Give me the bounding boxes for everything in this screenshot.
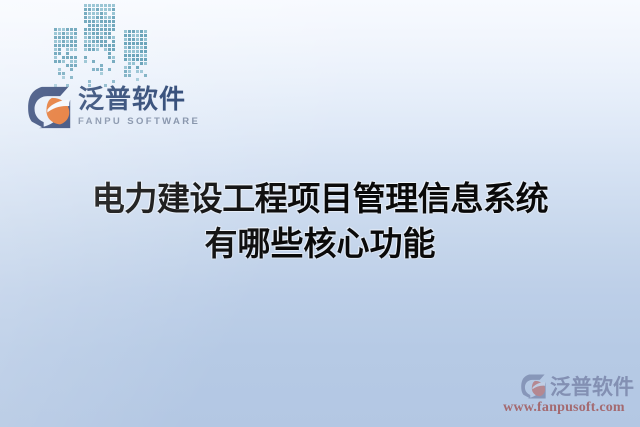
skyline-pixel <box>100 72 103 75</box>
skyline-pixel <box>144 46 147 49</box>
skyline-pixel <box>88 32 91 35</box>
skyline-pixel <box>84 4 87 7</box>
brand-name-cn: 泛普软件 <box>78 87 200 114</box>
skyline-pixel <box>66 32 69 35</box>
skyline-pixel <box>62 44 65 47</box>
skyline-pixel <box>62 76 65 79</box>
skyline-pixel <box>144 62 147 65</box>
skyline-pixel <box>108 4 111 7</box>
skyline-pixel <box>136 58 139 61</box>
skyline-pixel <box>70 48 73 51</box>
skyline-pixel <box>124 70 127 73</box>
skyline-pixel <box>96 68 99 71</box>
skyline-pixel <box>96 20 99 23</box>
skyline-pixel <box>58 40 61 43</box>
skyline-pixel <box>136 30 139 33</box>
fanpu-hexagon-swoosh-watermark-icon <box>521 374 548 399</box>
skyline-pixel <box>58 36 61 39</box>
skyline-pixel <box>124 46 127 49</box>
skyline-pixel <box>108 16 111 19</box>
skyline-pixel <box>112 12 115 15</box>
skyline-pixel <box>128 38 131 41</box>
skyline-pixel <box>70 56 73 59</box>
skyline-pixel <box>96 4 99 7</box>
skyline-pixel <box>112 60 115 63</box>
skyline-pixel <box>54 28 57 31</box>
skyline-pixel <box>92 20 95 23</box>
skyline-pixel <box>92 4 95 7</box>
skyline-pixel <box>108 56 111 59</box>
skyline-pixel <box>112 56 115 59</box>
skyline-pixel <box>84 20 87 23</box>
skyline-pixel <box>54 48 57 51</box>
skyline-pixel <box>74 40 77 43</box>
fanpu-hexagon-swoosh-icon <box>28 86 74 129</box>
skyline-pixel <box>108 36 111 39</box>
skyline-pixel <box>84 36 87 39</box>
skyline-pixel <box>128 66 131 69</box>
skyline-pixel <box>62 56 65 59</box>
brand-text-block: 泛普软件 FANPU SOFTWARE <box>78 86 200 127</box>
skyline-pixel <box>84 60 87 63</box>
skyline-pixel <box>88 44 91 47</box>
skyline-pixel <box>112 4 115 7</box>
skyline-pixel <box>112 28 115 31</box>
skyline-tower-center <box>84 4 117 88</box>
skyline-pixel <box>62 40 65 43</box>
skyline-pixel <box>136 78 139 81</box>
skyline-pixel <box>96 8 99 11</box>
skyline-pixel <box>144 38 147 41</box>
skyline-pixel <box>128 30 131 33</box>
skyline-pixel <box>128 34 131 37</box>
skyline-pixel <box>108 52 111 55</box>
skyline-pixel <box>132 46 135 49</box>
skyline-pixel <box>84 16 87 19</box>
skyline-pixel <box>104 48 107 51</box>
skyline-pixel <box>84 48 87 51</box>
skyline-pixel <box>92 24 95 27</box>
skyline-pixel <box>96 44 99 47</box>
skyline-pixel <box>124 30 127 33</box>
skyline-pixel <box>54 32 57 35</box>
skyline-pixel <box>62 60 65 63</box>
skyline-pixel <box>136 46 139 49</box>
skyline-pixel <box>70 60 73 63</box>
skyline-pixel <box>100 16 103 19</box>
skyline-pixel <box>92 60 95 63</box>
skyline-pixel <box>128 46 131 49</box>
skyline-pixel <box>62 28 65 31</box>
skyline-tower-right <box>124 30 150 88</box>
skyline-pixel <box>124 54 127 57</box>
skyline-pixel <box>144 42 147 45</box>
skyline-pixel <box>88 4 91 7</box>
skyline-pixel <box>100 68 103 71</box>
skyline-pixel <box>100 40 103 43</box>
skyline-pixel <box>66 40 69 43</box>
skyline-pixel <box>104 40 107 43</box>
skyline-pixel <box>124 38 127 41</box>
skyline-pixel <box>96 28 99 31</box>
skyline-pixel <box>124 42 127 45</box>
skyline-pixel <box>92 28 95 31</box>
skyline-pixel <box>66 56 69 59</box>
skyline-pixel <box>100 4 103 7</box>
skyline-pixel <box>144 74 147 77</box>
skyline-pixel <box>66 64 69 67</box>
skyline-pixel <box>74 64 77 67</box>
skyline-pixel <box>92 68 95 71</box>
skyline-pixel <box>112 44 115 47</box>
skyline-pixel <box>70 36 73 39</box>
skyline-pixel <box>100 12 103 15</box>
skyline-pixel <box>88 8 91 11</box>
skyline-pixel <box>104 12 107 15</box>
skyline-pixel <box>88 48 91 51</box>
skyline-pixel <box>66 52 69 55</box>
skyline-pixel <box>74 56 77 59</box>
skyline-pixel <box>58 28 61 31</box>
skyline-pixel <box>140 38 143 41</box>
skyline-pixel <box>96 40 99 43</box>
skyline-pixel <box>92 44 95 47</box>
skyline-pixel <box>140 34 143 37</box>
skyline-pixel <box>136 38 139 41</box>
skyline-pixel <box>70 40 73 43</box>
skyline-pixel <box>66 36 69 39</box>
skyline-pixel <box>88 40 91 43</box>
skyline-pixel <box>92 12 95 15</box>
page-title-line-1: 电力建设工程项目管理信息系统 <box>0 176 640 221</box>
watermark-name-cn: 泛普软件 <box>550 371 634 401</box>
skyline-pixel <box>70 68 73 71</box>
skyline-pixel <box>140 54 143 57</box>
skyline-pixel <box>104 32 107 35</box>
skyline-pixel <box>70 44 73 47</box>
skyline-pixel <box>74 28 77 31</box>
skyline-pixel <box>144 30 147 33</box>
skyline-pixel <box>100 32 103 35</box>
skyline-pixel <box>70 76 73 79</box>
skyline-pixel <box>128 58 131 61</box>
skyline-pixel <box>112 8 115 11</box>
skyline-pixel <box>132 50 135 53</box>
skyline-pixel <box>92 16 95 19</box>
skyline-pixel <box>108 48 111 51</box>
page-title-line-2: 有哪些核心功能 <box>0 221 640 266</box>
skyline-pixel <box>84 28 87 31</box>
skyline-pixel <box>54 40 57 43</box>
skyline-pixel <box>104 4 107 7</box>
skyline-pixel <box>108 24 111 27</box>
skyline-pixel <box>54 56 57 59</box>
skyline-pixel <box>144 50 147 53</box>
skyline-pixel <box>58 48 61 51</box>
skyline-pixel <box>70 64 73 67</box>
skyline-pixel <box>104 8 107 11</box>
skyline-pixel <box>136 34 139 37</box>
skyline-pixel <box>140 50 143 53</box>
skyline-pixel <box>74 48 77 51</box>
skyline-pixel <box>112 48 115 51</box>
skyline-pixel <box>112 20 115 23</box>
skyline-pixel <box>104 36 107 39</box>
skyline-pixel <box>96 12 99 15</box>
skyline-pixel <box>124 50 127 53</box>
watermark-url: www.fanpusoft.com <box>494 400 634 416</box>
skyline-pixel <box>136 54 139 57</box>
skyline-pixel <box>66 44 69 47</box>
skyline-pixel <box>58 68 61 71</box>
skyline-pixel <box>140 30 143 33</box>
skyline-pixel <box>140 70 143 73</box>
skyline-pixel <box>58 32 61 35</box>
brand-logo: 泛普软件 FANPU SOFTWARE <box>28 86 200 129</box>
skyline-pixel <box>100 24 103 27</box>
skyline-pixel <box>112 16 115 19</box>
skyline-pixel <box>54 52 57 55</box>
skyline-pixel <box>62 72 65 75</box>
skyline-pixel <box>136 42 139 45</box>
skyline-pixel <box>74 36 77 39</box>
skyline-pixel <box>108 44 111 47</box>
skyline-pixel <box>96 24 99 27</box>
skyline-tower-left <box>54 28 78 88</box>
skyline-pixel <box>128 54 131 57</box>
skyline-pixel <box>136 50 139 53</box>
skyline-pixel <box>62 36 65 39</box>
skyline-pixel <box>84 40 87 43</box>
skyline-pixel <box>132 62 135 65</box>
skyline-pixel <box>100 28 103 31</box>
pixel-skyline-icon <box>54 0 150 88</box>
skyline-pixel <box>92 36 95 39</box>
skyline-pixel <box>132 34 135 37</box>
skyline-pixel <box>58 44 61 47</box>
skyline-pixel <box>100 64 103 67</box>
page-title: 电力建设工程项目管理信息系统 有哪些核心功能 <box>0 176 640 266</box>
skyline-pixel <box>88 28 91 31</box>
skyline-pixel <box>88 36 91 39</box>
skyline-pixel <box>92 40 95 43</box>
skyline-pixel <box>108 68 111 71</box>
skyline-pixel <box>84 12 87 15</box>
skyline-pixel <box>88 16 91 19</box>
skyline-pixel <box>132 30 135 33</box>
skyline-pixel <box>58 52 61 55</box>
skyline-pixel <box>88 20 91 23</box>
skyline-pixel <box>100 8 103 11</box>
skyline-pixel <box>54 44 57 47</box>
brand-name-en: FANPU SOFTWARE <box>78 116 200 127</box>
watermark-logo-row: 泛普软件 <box>494 371 634 401</box>
skyline-pixel <box>58 72 61 75</box>
skyline-pixel <box>124 66 127 69</box>
skyline-pixel <box>128 70 131 73</box>
skyline-pixel <box>132 58 135 61</box>
skyline-pixel <box>96 36 99 39</box>
skyline-pixel <box>74 32 77 35</box>
skyline-pixel <box>100 44 103 47</box>
skyline-pixel <box>104 20 107 23</box>
skyline-pixel <box>74 60 77 63</box>
skyline-pixel <box>140 58 143 61</box>
skyline-pixel <box>124 74 127 77</box>
skyline-pixel <box>88 80 91 83</box>
skyline-pixel <box>108 32 111 35</box>
skyline-pixel <box>128 42 131 45</box>
skyline-pixel <box>54 36 57 39</box>
skyline-pixel <box>104 28 107 31</box>
skyline-pixel <box>66 28 69 31</box>
skyline-pixel <box>88 12 91 15</box>
skyline-pixel <box>58 60 61 63</box>
skyline-pixel <box>140 46 143 49</box>
skyline-pixel <box>108 8 111 11</box>
skyline-pixel <box>96 48 99 51</box>
skyline-pixel <box>128 50 131 53</box>
skyline-pixel <box>132 38 135 41</box>
skyline-pixel <box>136 66 139 69</box>
skyline-pixel <box>70 28 73 31</box>
skyline-pixel <box>124 34 127 37</box>
skyline-pixel <box>100 20 103 23</box>
skyline-pixel <box>108 20 111 23</box>
skyline-pixel <box>104 24 107 27</box>
skyline-pixel <box>84 8 87 11</box>
skyline-pixel <box>112 24 115 27</box>
skyline-pixel <box>92 48 95 51</box>
skyline-pixel <box>92 32 95 35</box>
skyline-pixel <box>144 34 147 37</box>
skyline-pixel <box>54 60 57 63</box>
skyline-pixel <box>140 62 143 65</box>
skyline-pixel <box>74 44 77 47</box>
skyline-pixel <box>112 80 115 83</box>
skyline-pixel <box>144 54 147 57</box>
skyline-pixel <box>84 44 87 47</box>
skyline-pixel <box>132 54 135 57</box>
skyline-pixel <box>96 16 99 19</box>
skyline-pixel <box>96 32 99 35</box>
skyline-pixel <box>84 32 87 35</box>
skyline-pixel <box>112 36 115 39</box>
watermark: 泛普软件 www.fanpusoft.com <box>494 371 634 416</box>
skyline-pixel <box>124 58 127 61</box>
skyline-pixel <box>66 48 69 51</box>
skyline-pixel <box>140 42 143 45</box>
skyline-pixel <box>128 74 131 77</box>
skyline-pixel <box>92 8 95 11</box>
poster-canvas: 泛普软件 FANPU SOFTWARE 电力建设工程项目管理信息系统 有哪些核心… <box>0 0 640 427</box>
skyline-pixel <box>70 32 73 35</box>
skyline-pixel <box>128 62 131 65</box>
skyline-pixel <box>88 24 91 27</box>
skyline-pixel <box>100 36 103 39</box>
skyline-pixel <box>104 16 107 19</box>
skyline-pixel <box>136 70 139 73</box>
skyline-pixel <box>62 32 65 35</box>
skyline-pixel <box>104 44 107 47</box>
skyline-pixel <box>108 28 111 31</box>
skyline-pixel <box>112 40 115 43</box>
skyline-pixel <box>84 56 87 59</box>
skyline-pixel <box>132 42 135 45</box>
skyline-pixel <box>144 58 147 61</box>
